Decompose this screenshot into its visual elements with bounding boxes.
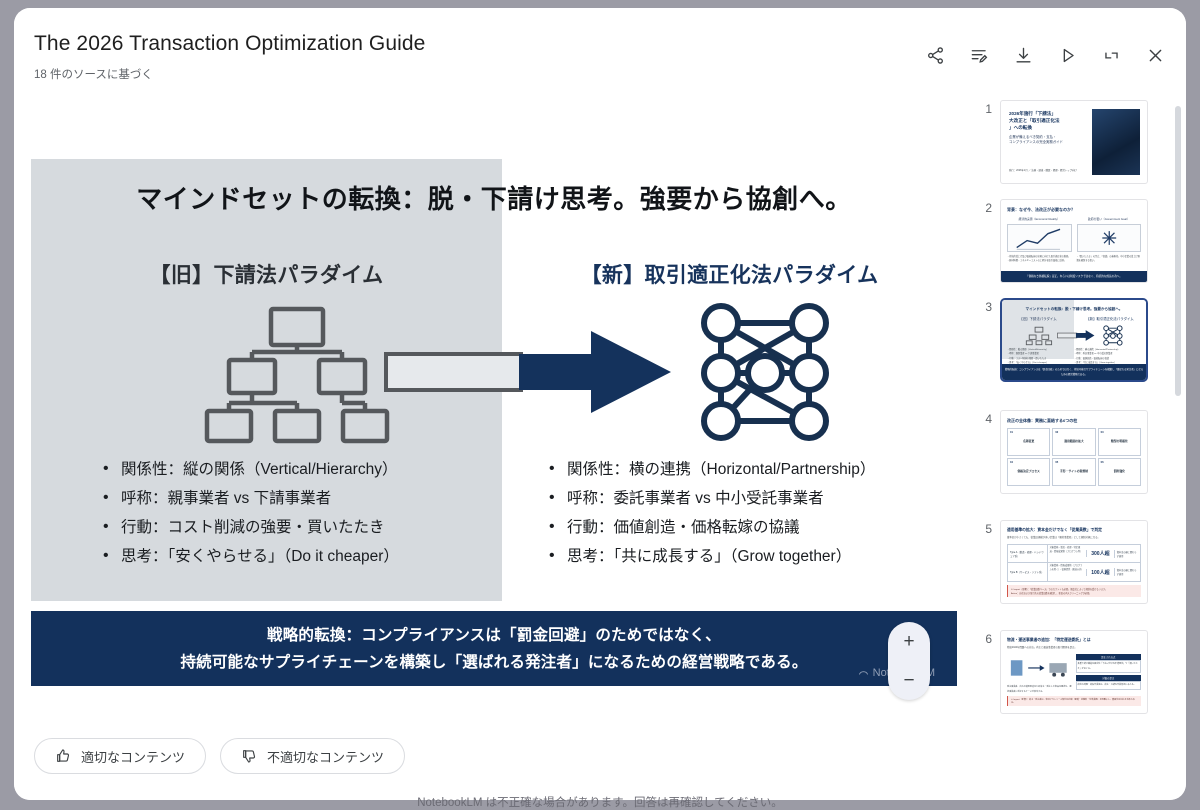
- thumb-subtitle: 物流2024年問題への対応。荷主と運送事業者の取引関係を是正。: [1007, 646, 1141, 650]
- download-icon[interactable]: [1008, 40, 1038, 70]
- thumb-title: 適用基準の拡大：資本金だけでなく「従業員数」で判定: [1007, 527, 1141, 534]
- thumbs-down-label: 不適切なコンテンツ: [267, 747, 384, 766]
- thumbs-down-icon: [241, 748, 257, 764]
- list-item: 行動：価値創造・価格転嫁の協議: [549, 513, 957, 542]
- paradigm-diagram: [31, 299, 957, 444]
- slide-canvas[interactable]: マインドセットの転換：脱・下請け思考。強要から協創へ。 【旧】下請法パラダイム …: [31, 159, 957, 686]
- thumb-left-head: 経済的実態（Economic Reality）: [1007, 217, 1072, 222]
- thumb-title: 2026年施行「下請法」 大改正と「取引適正化法 」への転換: [1009, 110, 1087, 131]
- header-bar: The 2026 Transaction Optimization Guide …: [14, 8, 1186, 94]
- thumb-subtitle: 企業が備えるべき契約・支払・ コンプライアンスの完全実務ガイド: [1009, 135, 1087, 145]
- thumb-cell: 01名称変更: [1007, 428, 1050, 456]
- slide-thumbnail-5[interactable]: 適用基準の拡大：資本金だけでなく「従業員数」で判定 資本金が小さくても、従業員規…: [1000, 520, 1148, 604]
- thumb-burst-icon: [1077, 224, 1142, 252]
- slide-stage: マインドセットの転換：脱・下請け思考。強要から協創へ。 【旧】下請法パラダイム …: [14, 94, 974, 724]
- thumbnail-number: 5: [974, 520, 992, 536]
- thumb-subtitle: 資本金が小さくても、従業員規模が多い企業は「親的事業者」として規制対象になる。: [1007, 536, 1141, 540]
- thumbnail-number: 2: [974, 199, 992, 215]
- thumbs-up-icon: [55, 748, 71, 764]
- list-item: 行動：コスト削減の強要・買いたたき: [103, 513, 503, 542]
- slide-thumbnail-4[interactable]: 改正の全体像：実務に直結する6つの柱 01名称変更 02適用範囲の拡大 03類型…: [1000, 410, 1148, 494]
- list-item: 思考：「共に成長する」（Grow together）: [549, 542, 957, 571]
- share-icon[interactable]: [920, 40, 950, 70]
- thumbs-up-button[interactable]: 適切なコンテンツ: [34, 738, 206, 774]
- thumbnail-row[interactable]: 6 物流・運送事業者の追加：「特定運送委託」とは 物流2024年問題への対応。荷…: [974, 630, 1174, 714]
- new-paradigm-heading: 【新】取引適正化法パラダイム: [502, 259, 957, 289]
- thumb-logistics-icon: [1007, 654, 1073, 680]
- old-paradigm-heading: 【旧】下請法パラダイム: [31, 259, 502, 289]
- new-paradigm-bullets: 関係性：横の連携（Horizontal/Partnership） 呼称：委託事業…: [549, 455, 957, 571]
- feedback-buttons: 適切なコンテンツ 不適切なコンテンツ: [34, 738, 405, 774]
- thumbnail-number: 3: [974, 298, 992, 314]
- hierarchy-tree-icon: [207, 309, 387, 441]
- transition-arrow-icon: [386, 331, 671, 413]
- thumb-cover-image: [1092, 109, 1140, 175]
- thumbnail-number: 4: [974, 410, 992, 426]
- thumbnail-scrollbar[interactable]: [1175, 106, 1181, 396]
- thumb-right-head: 政府の狙い（Government Goal）: [1077, 217, 1142, 222]
- thumbnail-row[interactable]: 5 適用基準の拡大：資本金だけでなく「従業員数」で判定 資本金が小さくても、従業…: [974, 520, 1174, 604]
- thumbnail-number: 6: [974, 630, 992, 646]
- list-item: 呼称：委託事業者 vs 中小受託事業者: [549, 484, 957, 513]
- old-paradigm-bullets: 関係性：縦の関係（Vertical/Hierarchy） 呼称：親事業者 vs …: [103, 455, 503, 571]
- footer-bar: 適切なコンテンツ 不適切なコンテンツ: [14, 724, 1186, 800]
- list-item: 関係性：縦の関係（Vertical/Hierarchy）: [103, 455, 503, 484]
- notebooklm-report-window: The 2026 Transaction Optimization Guide …: [14, 8, 1186, 800]
- list-item: 思考：「安くやらせる」（Do it cheaper）: [103, 542, 503, 571]
- thumb-diagram-icon: [1002, 324, 1146, 346]
- banner-line-1: 戦略的転換：コンプライアンスは「罰金回避」のためではなく、: [267, 622, 721, 649]
- collapse-icon[interactable]: [1096, 40, 1126, 70]
- thumb-right-head: 【新】取引適正化法パラダイム: [1074, 317, 1146, 322]
- thumb-chart-icon: [1007, 224, 1072, 252]
- list-item: 関係性：横の連携（Horizontal/Partnership）: [549, 455, 957, 484]
- notebooklm-logo-icon: [858, 668, 869, 679]
- thumb-band: 戦略的転換：コンプライアンスは「罰金回避」のためではなく、持続可能なサプライチェ…: [1002, 364, 1146, 380]
- list-item: 呼称：親事業者 vs 下請事業者: [103, 484, 503, 513]
- page-title: The 2026 Transaction Optimization Guide: [34, 32, 425, 56]
- thumb-title: 背景：なぜ今、法改正が必要なのか？: [1007, 206, 1141, 213]
- thumb-title: 改正の全体像：実務に直結する6つの柱: [1007, 417, 1141, 424]
- thumb-cell: 02適用範囲の拡大: [1052, 428, 1095, 456]
- thumbnail-row[interactable]: 4 改正の全体像：実務に直結する6つの柱 01名称変更 02適用範囲の拡大 03…: [974, 410, 1174, 494]
- strategy-banner: 戦略的転換：コンプライアンスは「罰金回避」のためではなく、 持続可能なサプライチ…: [31, 611, 957, 686]
- network-graph-icon: [704, 306, 826, 438]
- source-count-label: 18 件のソースに基づく: [34, 66, 153, 82]
- thumb-left-head: 【旧】下請法パラダイム: [1002, 317, 1074, 322]
- thumbnail-number: 1: [974, 100, 992, 116]
- thumbnail-row[interactable]: 1 2026年施行「下請法」 大改正と「取引適正化法 」への転換 企業が備えるべ…: [974, 100, 1174, 184]
- close-icon[interactable]: [1140, 40, 1170, 70]
- zoom-in-button[interactable]: +: [894, 627, 924, 657]
- slide-thumbnail-2[interactable]: 背景：なぜ今、法改正が必要なのか？ 経済的実態（Economic Reality…: [1000, 199, 1148, 283]
- thumb-footer: 発行：2026年1月 ／ 法務・調達・購買・経理・経営トップ向け: [1009, 169, 1087, 173]
- thumb-alert: ⚠ Impact（影響）：荷主・発注者は、物流アウトソース契約の内容（運賃・待機…: [1007, 696, 1141, 706]
- thumbs-down-button[interactable]: 不適切なコンテンツ: [220, 738, 405, 774]
- thumb-alert: ⚠ Impact（影響）：「従業員数ベース」でのカウントも必要。親会社によって規…: [1007, 585, 1141, 597]
- edit-note-icon[interactable]: [964, 40, 994, 70]
- thumb-cell: 03類型の明確化: [1098, 428, 1141, 456]
- thumb-title: マインドセットの転換：脱・下請け思考。強要から協創へ。: [1002, 300, 1146, 313]
- zoom-controls: + −: [888, 622, 930, 700]
- thumb-title: 物流・運送事業者の追加：「特定運送委託」とは: [1007, 637, 1141, 644]
- slide-thumbnail-3[interactable]: マインドセットの転換：脱・下請け思考。強要から協創へ。 【旧】下請法パラダイム …: [1000, 298, 1148, 382]
- thumb-cell: 05手形・サイトの新規制: [1052, 458, 1095, 486]
- banner-line-2: 持続可能なサプライチェーンを構築し「選ばれる発注者」になるための経営戦略である。: [180, 649, 807, 676]
- slide-thumbnail-rail[interactable]: 1 2026年施行「下請法」 大改正と「取引適正化法 」への転換 企業が備えるべ…: [974, 94, 1186, 724]
- slide-heading: マインドセットの転換：脱・下請け思考。強要から協創へ。: [31, 179, 957, 216]
- thumbs-up-label: 適切なコンテンツ: [81, 747, 185, 766]
- slide-thumbnail-1[interactable]: 2026年施行「下請法」 大改正と「取引適正化法 」への転換 企業が備えるべき契…: [1000, 100, 1148, 184]
- header-actions: [920, 40, 1170, 70]
- zoom-out-button[interactable]: −: [894, 666, 924, 696]
- thumbnail-row[interactable]: 2 背景：なぜ今、法改正が必要なのか？ 経済的実態（Economic Reali…: [974, 199, 1174, 283]
- thumb-band: 「価格なき価格転嫁」是正。ねらいは制度リスクではなく、持続的な成長の為へ。: [1001, 271, 1147, 282]
- thumb-cell: 04価格決定プロセス: [1007, 458, 1050, 486]
- slide-thumbnail-6[interactable]: 物流・運送事業者の追加：「特定運送委託」とは 物流2024年問題への対応。荷主と…: [1000, 630, 1148, 714]
- thumbnail-row[interactable]: 3 マインドセットの転換：脱・下請け思考。強要から協創へ。 【旧】下請法パラダイ…: [974, 298, 1174, 382]
- play-icon[interactable]: [1052, 40, 1082, 70]
- thumb-cell: 06罰則強化: [1098, 458, 1141, 486]
